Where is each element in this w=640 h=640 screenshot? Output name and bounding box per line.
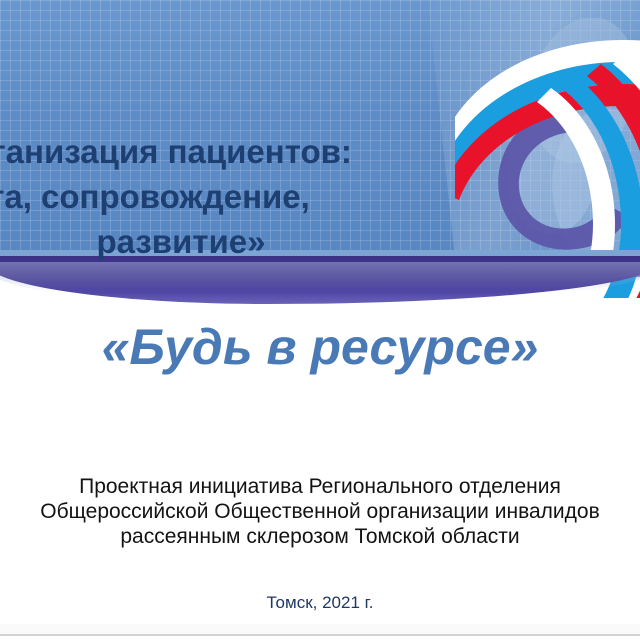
banner-divider-shadow: [0, 262, 640, 306]
footer-wash: [0, 624, 640, 634]
subtitle-line-1: Проектная инициатива Регионального отдел…: [0, 474, 640, 499]
banner-kicker-text: тских: [0, 59, 164, 89]
slide-subtitle: Проектная инициатива Регионального отдел…: [0, 474, 640, 549]
banner-title-line-2: та, сопровождение,: [0, 174, 494, 219]
slide-place-year: Томск, 2021 г.: [0, 592, 640, 614]
banner-title-line-3: развитие»: [0, 219, 494, 264]
presentation-slide: тских Организация пациентов: та, сопрово…: [0, 0, 640, 640]
slide-main-title: «Будь в ресурсе»: [0, 316, 640, 378]
subtitle-line-2: Общероссийской Общественной организации …: [0, 499, 640, 524]
footer-rule: [0, 634, 640, 636]
subtitle-line-3: рассеянным склерозом Томской области: [0, 524, 640, 549]
banner-title-line-1: Организация пациентов:: [0, 129, 494, 174]
banner-title: Организация пациентов: та, сопровождение…: [0, 129, 494, 264]
